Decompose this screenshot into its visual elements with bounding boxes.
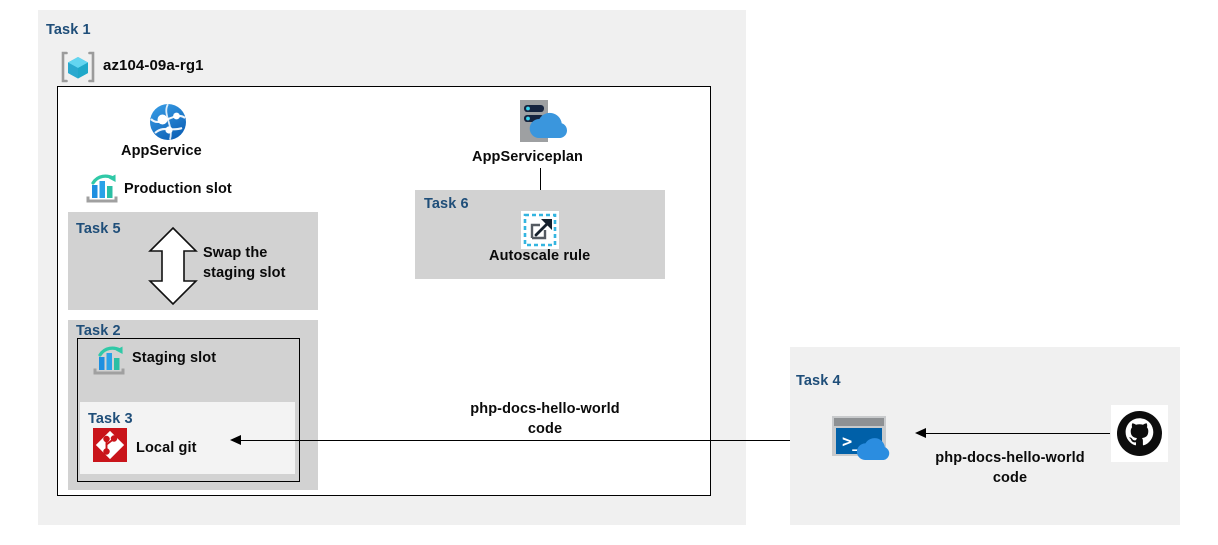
app-service-globe-icon — [148, 102, 188, 147]
diagram-canvas: Task 1 az104-09a-rg1 — [0, 0, 1218, 545]
staging-slot-label: Staging slot — [132, 350, 216, 366]
double-headed-vertical-arrow-icon — [144, 226, 202, 311]
task3-label: Task 3 — [88, 411, 133, 427]
task2-label: Task 2 — [76, 323, 121, 339]
app-service-plan-label: AppServiceplan — [472, 149, 583, 165]
autoscale-rule-label: Autoscale rule — [489, 248, 590, 264]
cloud-shell-terminal-icon: >_ — [832, 414, 900, 467]
production-slot-label: Production slot — [124, 181, 232, 197]
cloudshell-to-localgit-label: php-docs-hello-worldcode — [450, 400, 640, 439]
swap-slot-label: Swap thestaging slot — [203, 244, 313, 283]
resource-group-cube-icon — [60, 50, 96, 89]
connector-cloudshell-to-localgit-arrowhead — [230, 435, 241, 445]
connector-github-to-cloudshell-arrowhead — [915, 428, 926, 438]
github-octocat-icon — [1111, 405, 1168, 467]
app-service-label: AppService — [121, 143, 202, 159]
local-git-label: Local git — [136, 440, 197, 456]
github-to-cloudshell-label: php-docs-hello-worldcode — [915, 449, 1105, 488]
task6-label: Task 6 — [424, 196, 469, 212]
app-service-plan-server-cloud-icon — [512, 98, 568, 151]
local-git-icon — [93, 428, 127, 467]
task5-label: Task 5 — [76, 221, 121, 237]
deployment-slot-icon-staging — [92, 346, 126, 381]
connector-cloudshell-to-localgit-line — [240, 440, 808, 441]
connector-github-to-cloudshell-line — [925, 433, 1110, 434]
task1-label: Task 1 — [46, 22, 91, 38]
task4-label: Task 4 — [796, 373, 841, 389]
deployment-slot-icon-production — [85, 174, 119, 209]
resource-group-name: az104-09a-rg1 — [103, 57, 204, 74]
